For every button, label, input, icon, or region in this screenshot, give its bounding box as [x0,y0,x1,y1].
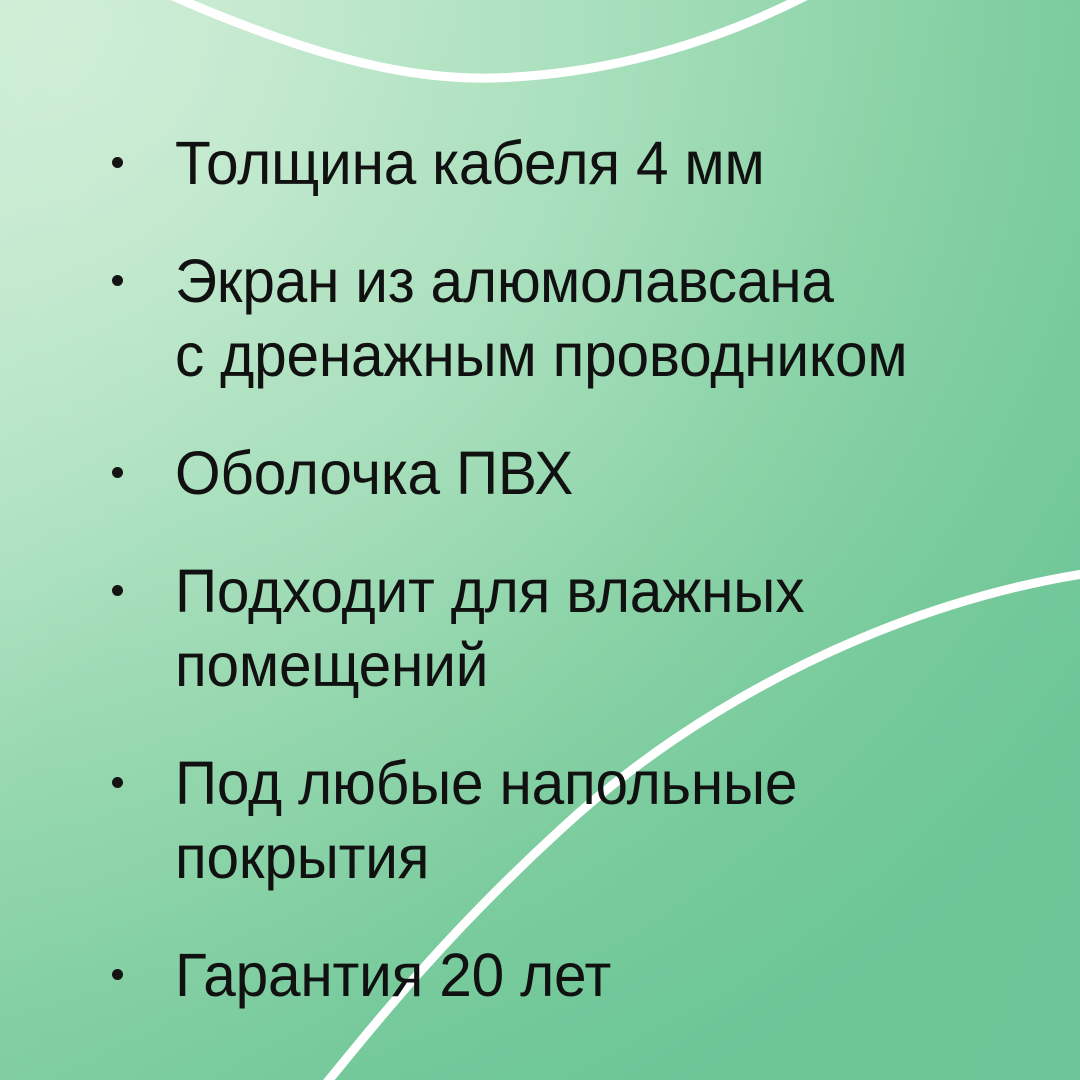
feature-text: Оболочка ПВХ [175,436,1005,510]
feature-list: Толщина кабеля 4 мм Экран из алюмолавсан… [112,126,1040,1012]
promo-slide: Толщина кабеля 4 мм Экран из алюмолавсан… [0,0,1080,1080]
bullet-dot-icon [112,585,123,596]
list-item: Подходит для влажных помещений [112,554,1040,702]
feature-text: Гарантия 20 лет [175,938,1005,1012]
feature-text: Экран из алюмолавсана с дренажным провод… [175,244,1005,392]
list-item: Под любые напольные покрытия [112,746,1040,894]
bullet-dot-icon [112,467,123,478]
list-item: Экран из алюмолавсана с дренажным провод… [112,244,1040,392]
feature-text: Под любые напольные покрытия [175,746,1005,894]
bullet-dot-icon [112,777,123,788]
bullet-dot-icon [112,157,123,168]
list-item: Оболочка ПВХ [112,436,1040,510]
bullet-dot-icon [112,275,123,286]
list-item: Гарантия 20 лет [112,938,1040,1012]
feature-text: Толщина кабеля 4 мм [175,126,1005,200]
feature-text: Подходит для влажных помещений [175,554,1005,702]
content-area: Толщина кабеля 4 мм Экран из алюмолавсан… [0,0,1080,1080]
bullet-dot-icon [112,969,123,980]
list-item: Толщина кабеля 4 мм [112,126,1040,200]
